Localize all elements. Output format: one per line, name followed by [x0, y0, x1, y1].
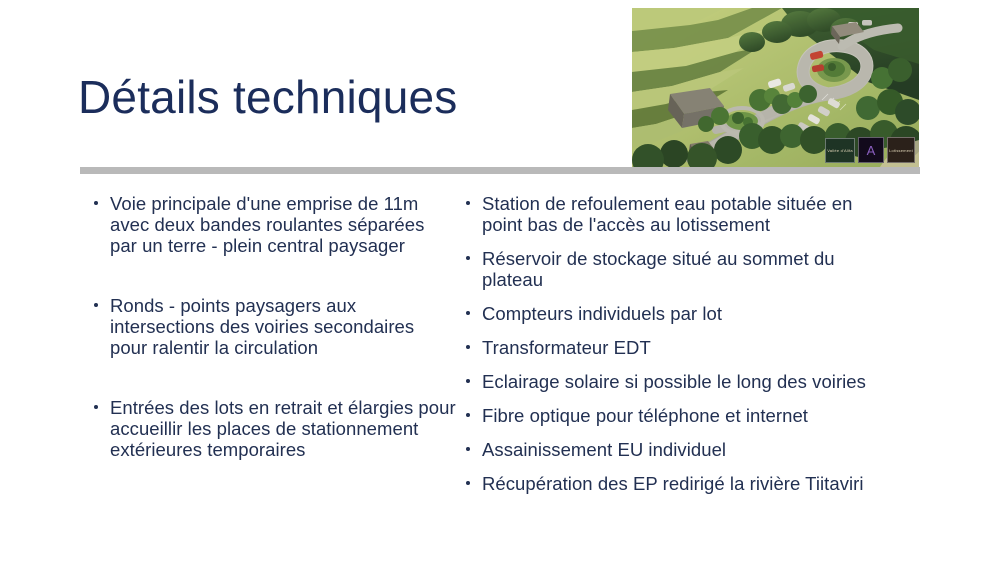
list-item: Ronds - points paysagers aux intersectio… [88, 295, 456, 358]
bullet-dot-icon [466, 413, 470, 417]
bullet-text: Station de refoulement eau potable situé… [482, 193, 852, 235]
aerial-render-image: Vallée d'Alifa A Lotissement [632, 8, 919, 167]
list-item: Compteurs individuels par lot [460, 303, 892, 324]
list-item: Transformateur EDT [460, 337, 892, 358]
right-bullet-list: Station de refoulement eau potable situé… [460, 193, 892, 494]
right-bullet-column: Station de refoulement eau potable situé… [460, 193, 892, 494]
bullet-text: Récupération des EP redirigé la rivière … [482, 473, 864, 494]
purple-monogram-badge: A [858, 137, 884, 163]
page-title: Détails techniques [78, 68, 457, 126]
bullet-dot-icon [466, 379, 470, 383]
list-item: Eclairage solaire si possible le long de… [460, 371, 892, 392]
bullet-text: Réservoir de stockage situé au sommet du… [482, 248, 835, 290]
bullet-dot-icon [466, 447, 470, 451]
bullet-dot-icon [466, 481, 470, 485]
hero-logo-badges: Vallée d'Alifa A Lotissement [825, 137, 915, 163]
bullet-dot-icon [466, 345, 470, 349]
bullet-dot-icon [94, 201, 98, 205]
list-item: Récupération des EP redirigé la rivière … [460, 473, 892, 494]
slide-canvas: Détails techniques [0, 0, 1000, 563]
bullet-dot-icon [466, 311, 470, 315]
left-bullet-list: Voie principale d'une emprise de 11m ave… [88, 193, 456, 460]
estate-wordmark-badge: Vallée d'Alifa [825, 138, 855, 163]
list-item: Voie principale d'une emprise de 11m ave… [88, 193, 456, 256]
list-item: Fibre optique pour téléphone et internet [460, 405, 892, 426]
bullet-text: Fibre optique pour téléphone et internet [482, 405, 808, 426]
list-item: Station de refoulement eau potable situé… [460, 193, 892, 235]
list-item: Entrées des lots en retrait et élargies … [88, 397, 456, 460]
bullet-dot-icon [466, 201, 470, 205]
estate-wordmark-text: Vallée d'Alifa [827, 148, 853, 153]
bullet-text: Compteurs individuels par lot [482, 303, 722, 324]
bullet-text: Voie principale d'une emprise de 11m ave… [110, 193, 424, 256]
developer-logo-text: Lotissement [889, 148, 913, 153]
developer-logo-badge: Lotissement [887, 137, 915, 163]
bullet-text: Transformateur EDT [482, 337, 651, 358]
bullet-dot-icon [94, 303, 98, 307]
bullet-dot-icon [94, 405, 98, 409]
left-bullet-column: Voie principale d'une emprise de 11m ave… [88, 193, 456, 460]
bullet-text: Eclairage solaire si possible le long de… [482, 371, 866, 392]
bullet-text: Assainissement EU individuel [482, 439, 726, 460]
monogram-glyph: A [867, 144, 876, 157]
bullet-text: Ronds - points paysagers aux intersectio… [110, 295, 414, 358]
list-item: Réservoir de stockage situé au sommet du… [460, 248, 892, 290]
title-divider-rule [80, 167, 920, 174]
list-item: Assainissement EU individuel [460, 439, 892, 460]
bullet-dot-icon [466, 256, 470, 260]
bullet-text: Entrées des lots en retrait et élargies … [110, 397, 456, 460]
